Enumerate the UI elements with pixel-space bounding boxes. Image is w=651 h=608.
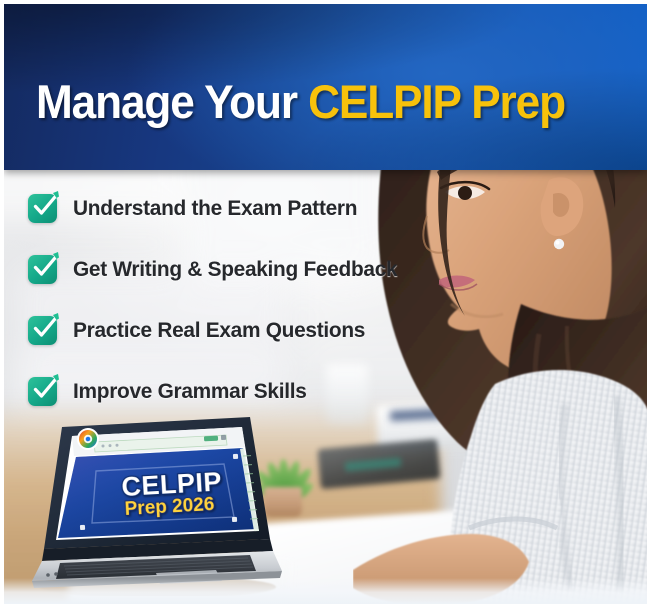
list-item: Practice Real Exam Questions: [28, 310, 458, 350]
headline-line-1: Manage Your CELPIP Prep: [36, 75, 601, 130]
benefits-checklist: Understand the Exam Pattern Get Writing …: [28, 188, 458, 432]
headline-line-1-accent: CELPIP Prep: [308, 75, 565, 128]
list-item-label: Get Writing & Speaking Feedback: [73, 257, 397, 282]
promo-banner: CELPIP Prep 2026: [0, 0, 651, 608]
list-item: Improve Grammar Skills: [28, 371, 458, 411]
list-item-label: Practice Real Exam Questions: [73, 318, 365, 343]
page-title: Manage Your CELPIP Prep the Smart Way: [36, 20, 601, 170]
list-item-label: Understand the Exam Pattern: [73, 196, 357, 221]
headline-line-1-plain: Manage Your: [36, 75, 308, 128]
list-item: Get Writing & Speaking Feedback: [28, 249, 458, 289]
laptop-device: CELPIP Prep 2026: [26, 411, 286, 596]
list-item: Understand the Exam Pattern: [28, 188, 458, 228]
list-item-label: Improve Grammar Skills: [73, 379, 307, 404]
check-square-icon: [28, 377, 57, 406]
check-square-icon: [28, 194, 57, 223]
check-square-icon: [28, 255, 57, 284]
check-square-icon: [28, 316, 57, 345]
headline-banner: Manage Your CELPIP Prep the Smart Way: [4, 4, 647, 170]
